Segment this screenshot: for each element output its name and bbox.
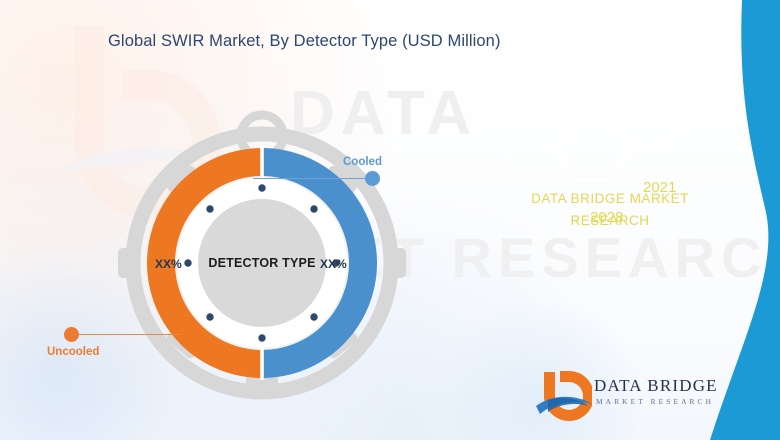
hexagons-icon bbox=[480, 78, 740, 193]
panel-title-line-2: By Regions, bbox=[480, 27, 740, 48]
data-bridge-mark-icon bbox=[536, 370, 592, 422]
hexagon-2021-shape bbox=[611, 84, 685, 148]
uncooled-callout-label: Uncooled bbox=[47, 346, 99, 358]
chart-title: Global SWIR Market, By Detector Type (US… bbox=[108, 32, 501, 51]
panel-title-line-1: Global SWIR Market, bbox=[480, 6, 740, 27]
panel-brand-line-1: DATA BRIDGE MARKET bbox=[480, 188, 740, 210]
panel-brand-line-2: RESEARCH bbox=[480, 210, 740, 232]
data-bridge-logo: DATA BRIDGE MARKET RESEARCH bbox=[536, 368, 711, 420]
cooled-percent-label: XX% bbox=[320, 257, 347, 271]
hexagon-2028-shape bbox=[557, 116, 631, 180]
donut-center-label: DETECTOR TYPE bbox=[186, 256, 338, 270]
cooled-callout-label: Cooled bbox=[343, 156, 382, 168]
infographic-canvas: DATA KET RESEARCH Global SWIR Market, By… bbox=[0, 0, 780, 440]
hexagon-group: 2021 2028 bbox=[480, 78, 740, 193]
cooled-callout-dot bbox=[365, 171, 380, 186]
uncooled-callout-dot bbox=[64, 327, 79, 342]
cooled-callout-line bbox=[253, 178, 367, 179]
uncooled-percent-label: XX% bbox=[155, 257, 182, 271]
uncooled-callout-line bbox=[72, 334, 182, 335]
panel-title: Global SWIR Market, By Regions, 2021 to … bbox=[480, 6, 740, 69]
panel-title-line-3: 2021 to 2028 bbox=[480, 48, 740, 69]
panel-brand-text: DATA BRIDGE MARKET RESEARCH bbox=[480, 188, 740, 232]
logo-name: DATA BRIDGE bbox=[594, 376, 718, 396]
logo-tagline: MARKET RESEARCH bbox=[596, 397, 714, 406]
